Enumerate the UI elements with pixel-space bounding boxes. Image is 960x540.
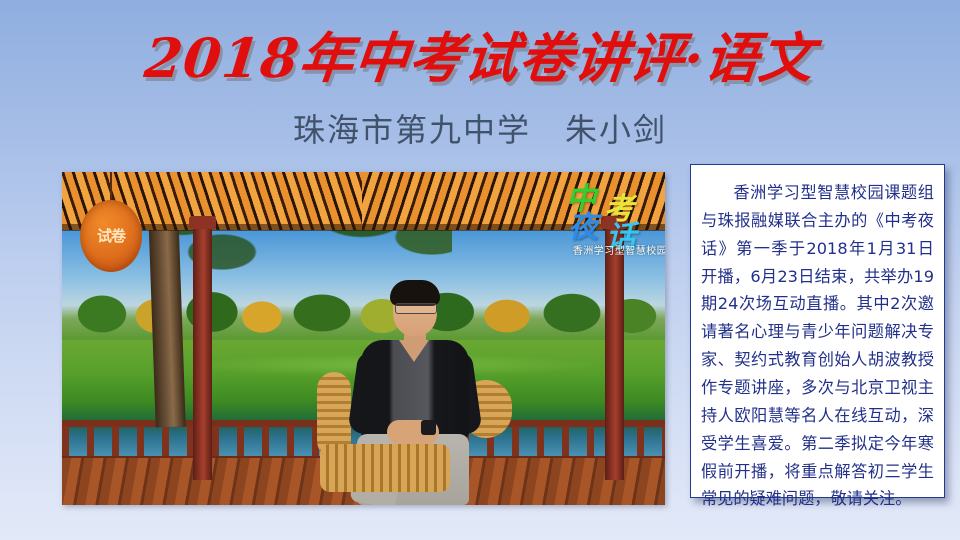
badge-string xyxy=(110,172,112,202)
info-panel-body: 香洲学习型智慧校园课题组与珠报融媒联合主办的《中考夜话》第一季于2018年1月3… xyxy=(701,179,934,513)
hanging-badge-label: 试卷 xyxy=(97,229,125,244)
lecture-photo: 试卷 中 考 夜 话 香洲学习型智慧校园 xyxy=(62,172,665,505)
pergola-post-cap-left xyxy=(189,216,216,229)
watermark-subtitle: 香洲学习型智慧校园 xyxy=(560,242,665,257)
rattan-chair-seat xyxy=(320,444,450,492)
watermark-char-3: 夜 xyxy=(568,202,598,246)
info-panel: 香洲学习型智慧校园课题组与珠报融媒联合主办的《中考夜话》第一季于2018年1月3… xyxy=(690,164,945,498)
subtitle-school-and-presenter: 珠海市第九中学 朱小剑 xyxy=(0,105,960,151)
page-title: 2018年中考试卷讲评·语文 xyxy=(0,14,960,93)
program-watermark: 中 考 夜 话 香洲学习型智慧校园 xyxy=(560,172,665,260)
pergola-post-left xyxy=(193,220,212,480)
wristwatch-icon xyxy=(421,420,436,435)
hanging-badge: 试卷 xyxy=(80,200,142,272)
presentation-slide: 2018年中考试卷讲评·语文 珠海市第九中学 朱小剑 试卷 xyxy=(0,0,960,540)
glasses-icon xyxy=(395,303,437,314)
